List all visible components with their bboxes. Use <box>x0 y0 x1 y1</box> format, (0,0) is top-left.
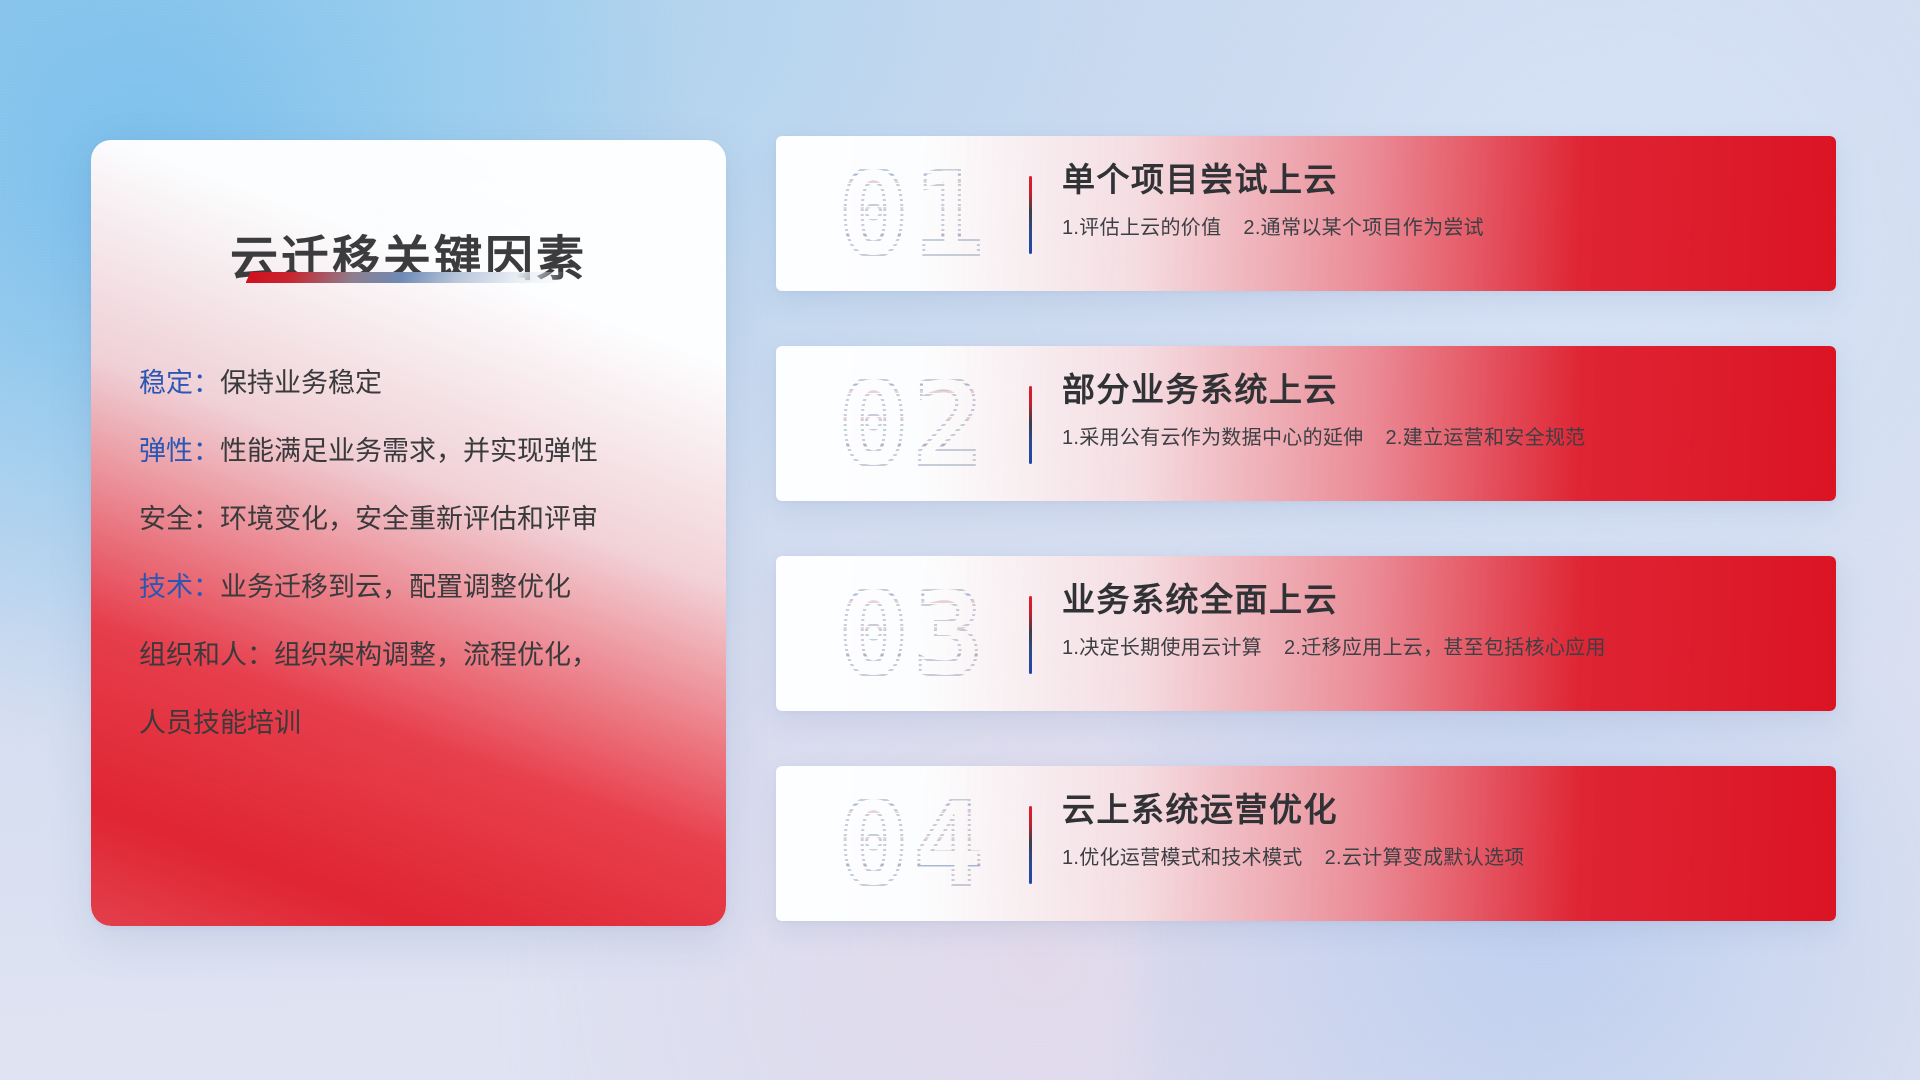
card-title: 单个项目尝试上云 <box>1062 161 1816 199</box>
stage-number-blue-lines: 04 <box>798 774 1028 914</box>
list-item: 弹性：性能满足业务需求，并实现弹性 <box>139 438 700 465</box>
card-subtitle: 1.优化运营模式和技术模式2.云计算变成默认选项 <box>1062 841 1816 870</box>
list-item: 人员技能培训 <box>139 710 700 737</box>
card-subtitle: 1.决定长期使用云计算2.迁移应用上云，甚至包括核心应用 <box>1062 631 1816 660</box>
card-accent-divider <box>1029 596 1032 674</box>
card-point-2: 2.云计算变成默认选项 <box>1325 847 1525 869</box>
factor-label: 弹性： <box>139 436 220 466</box>
card-accent-divider <box>1029 386 1032 464</box>
key-factors-list: 稳定：保持业务稳定 弹性：性能满足业务需求，并实现弹性 安全：环境变化，安全重新… <box>139 370 700 737</box>
card-subtitle: 1.评估上云的价值2.通常以某个项目作为尝试 <box>1062 211 1816 240</box>
card-point-1: 1.优化运营模式和技术模式 <box>1062 847 1303 869</box>
card-accent-divider <box>1029 806 1032 884</box>
list-item: 安全：环境变化，安全重新评估和评审 <box>139 506 700 533</box>
card-point-1: 1.决定长期使用云计算 <box>1062 637 1262 659</box>
factor-label: 组织和人： <box>139 640 274 670</box>
stage-number-blue-lines: 01 <box>798 144 1028 284</box>
card-title: 云上系统运营优化 <box>1062 791 1816 829</box>
factor-body: 业务迁移到云，配置调整优化 <box>220 572 571 602</box>
title-underline-bar <box>246 272 569 283</box>
factor-body: 人员技能培训 <box>139 708 301 738</box>
factor-label: 稳定： <box>139 368 220 398</box>
migration-stages-list: 01 01 01 单个项目尝试上云 1.评估上云的价值2.通常以某个项目作为尝试… <box>776 136 1836 921</box>
factor-label: 技术： <box>139 572 220 602</box>
factor-body: 性能满足业务需求，并实现弹性 <box>220 436 598 466</box>
card-accent-divider <box>1029 176 1032 254</box>
stage-number-blue-lines: 02 <box>798 354 1028 494</box>
stage-number-blue-lines: 03 <box>798 564 1028 704</box>
factor-label: 安全： <box>139 504 220 534</box>
list-item: 组织和人：组织架构调整，流程优化， <box>139 642 700 669</box>
card-subtitle: 1.采用公有云作为数据中心的延伸2.建立运营和安全规范 <box>1062 421 1816 450</box>
factor-body: 保持业务稳定 <box>220 368 382 398</box>
key-factors-panel: 云迁移关键因素 稳定：保持业务稳定 弹性：性能满足业务需求，并实现弹性 安全：环… <box>91 140 726 926</box>
card-point-1: 1.评估上云的价值 <box>1062 217 1221 239</box>
stage-card-04[interactable]: 04 04 04 云上系统运营优化 1.优化运营模式和技术模式2.云计算变成默认… <box>776 766 1836 921</box>
stage-card-02[interactable]: 02 02 02 部分业务系统上云 1.采用公有云作为数据中心的延伸2.建立运营… <box>776 346 1836 501</box>
stage-card-03[interactable]: 03 03 03 业务系统全面上云 1.决定长期使用云计算2.迁移应用上云，甚至… <box>776 556 1836 711</box>
factor-body: 组织架构调整，流程优化， <box>274 640 598 670</box>
card-text-block: 云上系统运营优化 1.优化运营模式和技术模式2.云计算变成默认选项 <box>1062 791 1816 870</box>
card-point-2: 2.迁移应用上云，甚至包括核心应用 <box>1284 637 1606 659</box>
card-title: 业务系统全面上云 <box>1062 581 1816 619</box>
slide-canvas: 云迁移关键因素 稳定：保持业务稳定 弹性：性能满足业务需求，并实现弹性 安全：环… <box>0 0 1920 1080</box>
stage-card-01[interactable]: 01 01 01 单个项目尝试上云 1.评估上云的价值2.通常以某个项目作为尝试 <box>776 136 1836 291</box>
card-point-1: 1.采用公有云作为数据中心的延伸 <box>1062 427 1363 449</box>
card-text-block: 单个项目尝试上云 1.评估上云的价值2.通常以某个项目作为尝试 <box>1062 161 1816 240</box>
list-item: 技术：业务迁移到云，配置调整优化 <box>139 574 700 601</box>
card-text-block: 部分业务系统上云 1.采用公有云作为数据中心的延伸2.建立运营和安全规范 <box>1062 371 1816 450</box>
card-point-2: 2.通常以某个项目作为尝试 <box>1243 217 1484 239</box>
card-point-2: 2.建立运营和安全规范 <box>1385 427 1585 449</box>
card-title: 部分业务系统上云 <box>1062 371 1816 409</box>
factor-body: 环境变化，安全重新评估和评审 <box>220 504 598 534</box>
card-text-block: 业务系统全面上云 1.决定长期使用云计算2.迁移应用上云，甚至包括核心应用 <box>1062 581 1816 660</box>
list-item: 稳定：保持业务稳定 <box>139 370 700 397</box>
